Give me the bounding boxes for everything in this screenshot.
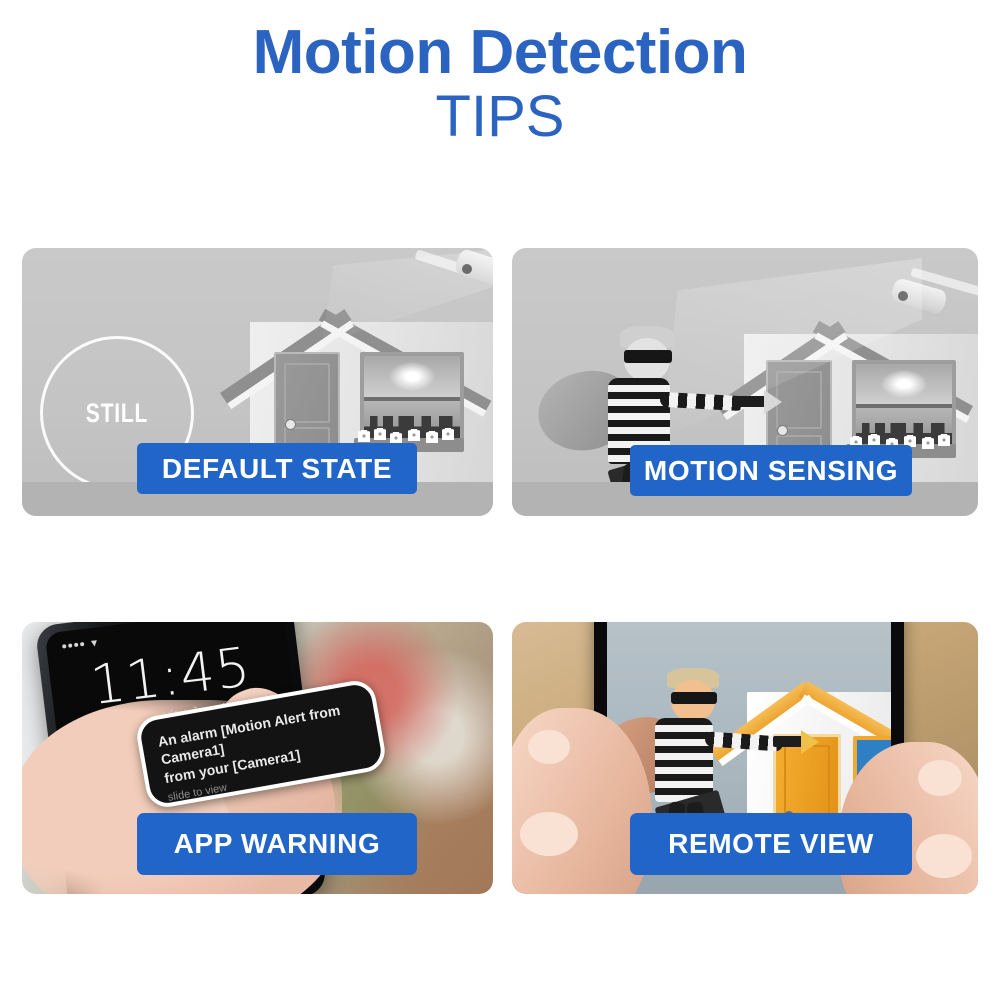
caption-app-warning[interactable]: APP WARNING xyxy=(137,813,417,875)
app-icon xyxy=(93,763,105,775)
title-line-secondary: TIPS xyxy=(0,87,1000,148)
burglar-arm xyxy=(705,731,784,751)
flashlight-body xyxy=(734,396,766,407)
caption-remote-view[interactable]: REMOTE VIEW xyxy=(630,813,912,875)
caption-default-state[interactable]: DEFAULT STATE xyxy=(137,443,417,494)
panel-remote-view[interactable]: REMOTE VIEW xyxy=(512,622,978,894)
flashlight-head xyxy=(764,390,782,414)
burglar-torso xyxy=(655,718,713,802)
panel-app-warning[interactable]: ▾ 11:45 Wednesday, June 1 An alarm [Moti… xyxy=(22,622,493,894)
page-title: Motion Detection TIPS xyxy=(0,20,1000,148)
panel-grid: STILL DEFAULT STATE xyxy=(22,248,978,894)
burglar-arm xyxy=(660,392,745,411)
burglar-mask xyxy=(624,350,672,363)
signal-dots-icon xyxy=(62,642,84,649)
burglar-mask xyxy=(671,692,717,704)
caption-motion-sensing[interactable]: MOTION SENSING xyxy=(630,445,912,496)
flashlight-body xyxy=(773,736,803,747)
panel-default-state[interactable]: STILL DEFAULT STATE xyxy=(22,248,493,516)
still-label: STILL xyxy=(86,398,148,429)
wifi-icon: ▾ xyxy=(90,636,97,649)
status-bar: ▾ xyxy=(62,636,98,652)
flashlight-head xyxy=(801,730,819,754)
title-line-primary: Motion Detection xyxy=(0,20,1000,85)
panel-motion-sensing[interactable]: MOTION SENSING xyxy=(512,248,978,516)
